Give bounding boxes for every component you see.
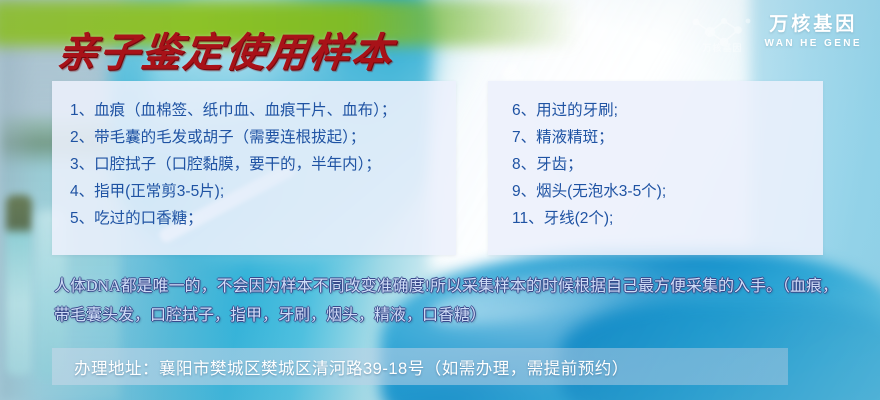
address-bar: 办理地址：襄阳市樊城区樊城区清河路39-18号（如需办理，需提前预约） (52, 348, 788, 385)
logo-watermark-text: 万核基因 (690, 41, 754, 54)
brand-name-en: WAN HE GENE (764, 39, 862, 49)
sample-list-left: 1、血痕（血棉签、纸巾血、血痕干片、血布）； 2、带毛囊的毛发或胡子（需要连根拔… (52, 81, 456, 232)
address-text: 办理地址：襄阳市樊城区樊城区清河路39-18号（如需办理，需提前预约） (74, 355, 629, 379)
sample-list-panel-right: 6、用过的牙刷; 7、精液精斑； 8、牙齿； 9、烟头(无泡水3-5个); 11… (488, 81, 823, 255)
brand-name-cn: 万核基因 (769, 15, 857, 34)
list-item: 1、血痕（血棉签、纸巾血、血痕干片、血布）； (70, 97, 456, 124)
explanatory-paragraph: 人体DNA都是唯一的，不会因为样本不同改变准确度!所以采集样本的时候根据自己最方… (54, 272, 844, 330)
list-item: 8、牙齿； (512, 151, 823, 178)
list-item: 7、精液精斑； (512, 124, 823, 151)
sample-list-panel-left: 1、血痕（血棉签、纸巾血、血痕干片、血布）； 2、带毛囊的毛发或胡子（需要连根拔… (52, 81, 456, 255)
list-item: 6、用过的牙刷; (512, 97, 823, 124)
list-item: 4、指甲(正常剪3-5片); (70, 178, 456, 205)
list-item: 11、牙线(2个); (512, 205, 823, 232)
poster-banner: 万核基因 万核基因 WAN HE GENE 亲子鉴定使用样本 1、血痕（血棉签、… (0, 0, 880, 400)
list-item: 5、吃过的口香糖； (70, 205, 456, 232)
brand-logo-text: 万核基因 WAN HE GENE (764, 15, 862, 49)
molecule-node-icon: 万核基因 (690, 12, 754, 52)
list-item: 9、烟头(无泡水3-5个); (512, 178, 823, 205)
list-item: 2、带毛囊的毛发或胡子（需要连根拔起）； (70, 124, 456, 151)
sample-list-right: 6、用过的牙刷; 7、精液精斑； 8、牙齿； 9、烟头(无泡水3-5个); 11… (488, 81, 823, 232)
list-item: 3、口腔拭子（口腔黏膜，要干的，半年内）； (70, 151, 456, 178)
brand-logo: 万核基因 万核基因 WAN HE GENE (690, 12, 862, 52)
page-title: 亲子鉴定使用样本 (54, 20, 397, 78)
